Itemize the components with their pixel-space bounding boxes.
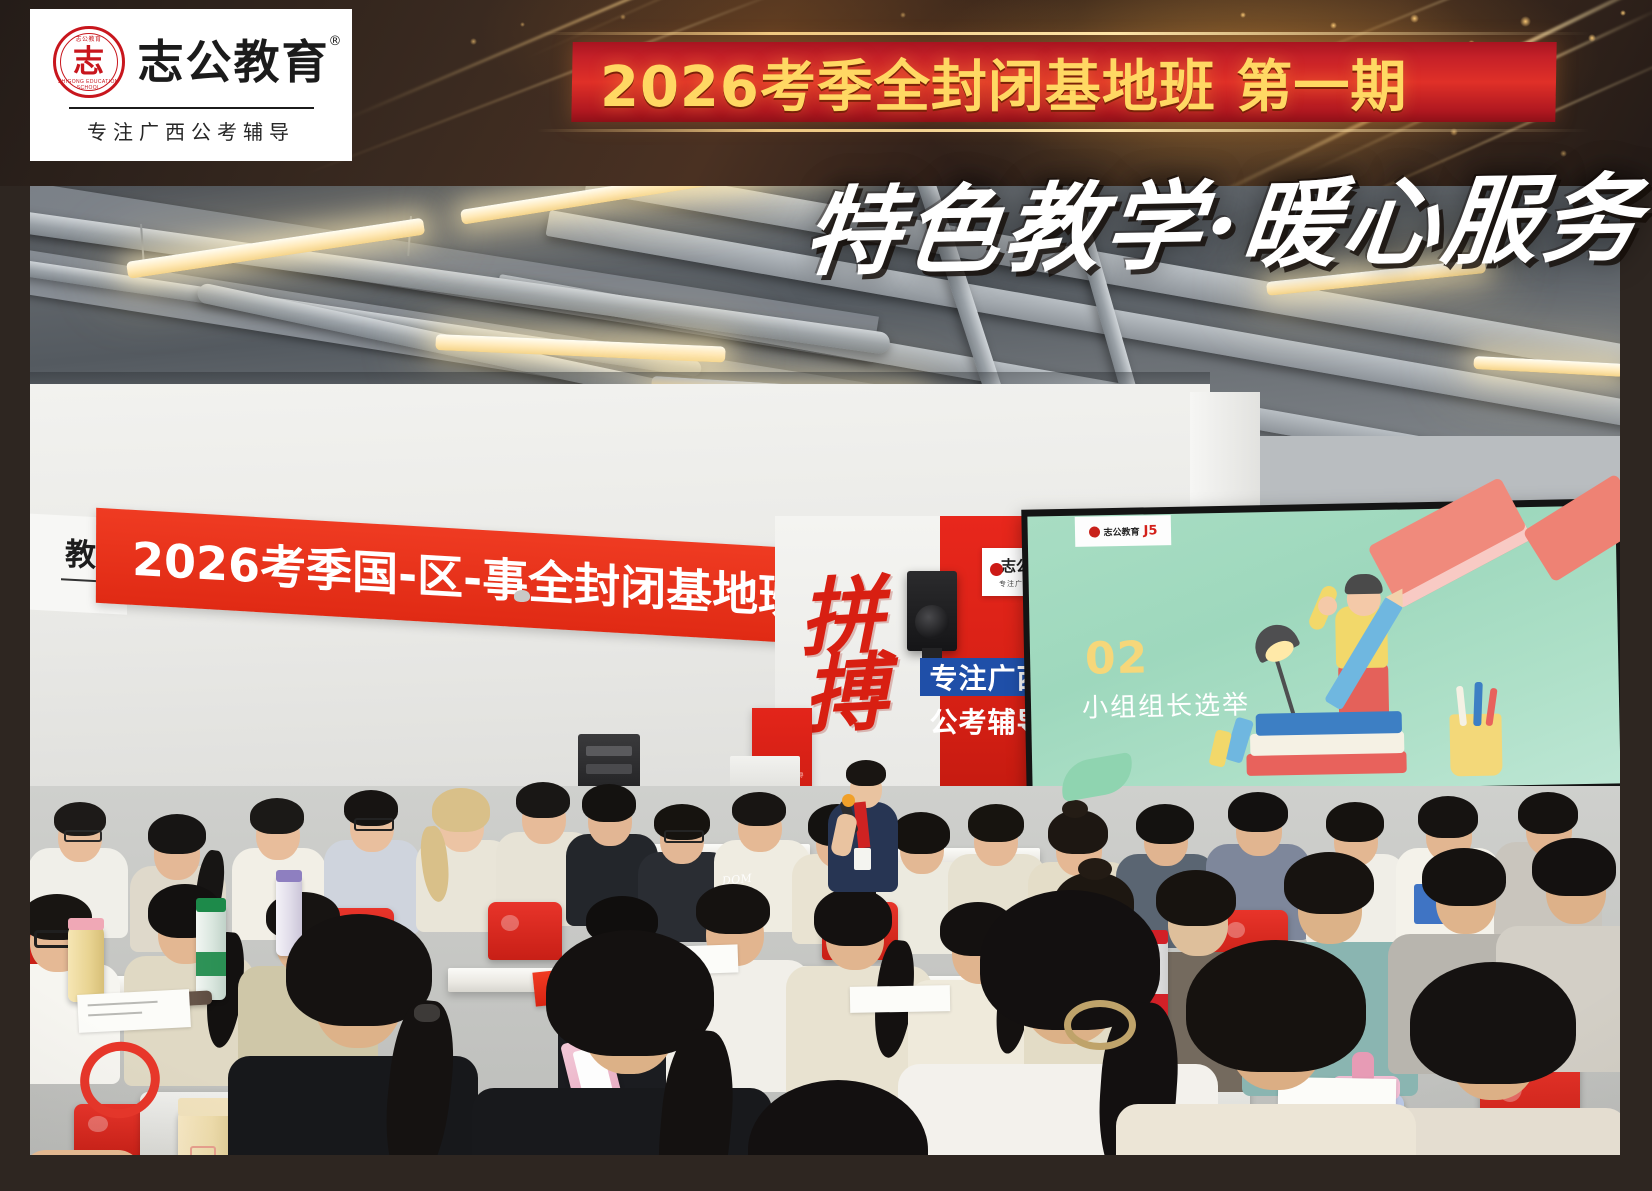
bokeh-particle xyxy=(1588,34,1596,42)
student-hair xyxy=(732,792,786,826)
bottle-cap xyxy=(196,898,226,912)
thermos-cap xyxy=(68,918,104,930)
seal-character: 志 xyxy=(73,47,104,78)
microphone-head xyxy=(842,794,855,807)
worksheet xyxy=(850,985,950,1013)
brand-logo-card: 志公教育 志 ZHIGONG EDUCATION SCHOOL 志公教育 ® 专… xyxy=(30,9,352,161)
illustration-pen xyxy=(1473,682,1483,726)
id-badge xyxy=(854,848,871,870)
slide-logo-brand: 志公教育 xyxy=(1103,524,1139,538)
eyeglasses-icon xyxy=(64,830,102,842)
classroom-photo: 教育 辅导 2026考季国-区-事全封闭基地班1期 拼搏 志公教育 专注广西公考… xyxy=(30,186,1620,1155)
illustration-hair xyxy=(1344,574,1382,595)
student-hair xyxy=(1284,852,1374,914)
course-title: 2026考季全封闭基地班 第一期 xyxy=(600,44,1560,120)
bokeh-particle xyxy=(900,12,906,18)
worksheet xyxy=(77,989,191,1033)
slide-section-title: 小组组长选举 xyxy=(1082,684,1251,724)
av-rack-slot xyxy=(586,764,632,774)
bokeh-particle xyxy=(1240,12,1246,18)
bokeh-particle xyxy=(1520,16,1531,27)
eyeglasses-icon xyxy=(354,818,394,831)
company-seal-icon: 志公教育 志 ZHIGONG EDUCATION SCHOOL xyxy=(53,26,125,98)
student-hair xyxy=(1326,802,1384,842)
student-hair-bun-knot xyxy=(1062,800,1088,818)
paper-line xyxy=(88,1012,142,1017)
bokeh-particle xyxy=(470,38,477,45)
av-rack-slot xyxy=(586,746,632,756)
illustration-book xyxy=(1256,711,1402,736)
bottle-label xyxy=(196,952,226,976)
student-hair xyxy=(892,812,950,854)
slide-logo: 志公教育 J5 xyxy=(1075,515,1172,547)
brand-tagline: 专注广西公考辅导 xyxy=(87,116,295,145)
chair xyxy=(488,902,562,960)
seal-arc-top-text: 志公教育 xyxy=(56,34,122,43)
thermos-label xyxy=(190,1146,216,1155)
seal-arc-bottom-text: ZHIGONG EDUCATION SCHOOL xyxy=(56,79,122,91)
slide-logo-badge: J5 xyxy=(1143,523,1157,538)
student-hair xyxy=(148,814,206,854)
student-hair-blonde xyxy=(432,788,490,832)
student-hair xyxy=(968,804,1024,842)
student-hair xyxy=(814,888,892,946)
student-hair xyxy=(1410,962,1576,1084)
student-hair xyxy=(1156,870,1236,926)
logo-top-row: 志公教育 志 ZHIGONG EDUCATION SCHOOL 志公教育 ® xyxy=(53,26,330,98)
poster-root: 2026考季全封闭基地班 第一期 志公教育 志 ZHIGONG EDUCATIO… xyxy=(0,0,1652,1191)
slide-logo-seal-icon xyxy=(1088,526,1099,537)
student-hair xyxy=(582,784,636,822)
student-hair xyxy=(1186,940,1366,1072)
eyeglasses-icon xyxy=(664,830,704,843)
bokeh-particle xyxy=(1410,14,1419,23)
hair-tie xyxy=(414,1004,440,1022)
student-hair xyxy=(696,884,770,934)
bokeh-particle xyxy=(1620,10,1626,16)
student-torso xyxy=(1116,1104,1416,1155)
student-hair xyxy=(516,782,570,818)
student-hair-bun-knot xyxy=(1078,858,1112,880)
calligraphy-subtitle-overlay: 特色教学·暖心服务 xyxy=(798,141,1652,295)
brand-name: 志公教育 ® xyxy=(138,39,330,85)
bokeh-particle xyxy=(520,22,525,27)
student-hair xyxy=(1422,848,1506,906)
security-camera-icon xyxy=(514,590,530,602)
slide-section-number: 02 xyxy=(1085,632,1149,684)
brand-name-text: 志公教育 xyxy=(138,35,330,89)
instructor-hair xyxy=(846,760,886,786)
student-hair xyxy=(1532,838,1616,896)
student-hair xyxy=(1418,796,1478,838)
bokeh-particle xyxy=(1330,22,1337,29)
student-hair xyxy=(250,798,304,834)
student-leg xyxy=(30,1150,142,1155)
bokeh-particle xyxy=(620,14,626,20)
student-hair xyxy=(1136,804,1194,844)
trademark-symbol: ® xyxy=(329,35,344,48)
thermos-bottle xyxy=(68,924,104,1002)
paper-line xyxy=(88,1001,158,1007)
student-hair xyxy=(1518,792,1578,834)
wall-logo-plate-seal-icon xyxy=(990,563,1003,576)
bottle-cap xyxy=(276,870,302,882)
wall-speaker xyxy=(907,571,957,651)
logo-divider xyxy=(69,107,314,109)
hair-clip xyxy=(1064,1000,1136,1050)
student-hair xyxy=(1228,792,1288,832)
